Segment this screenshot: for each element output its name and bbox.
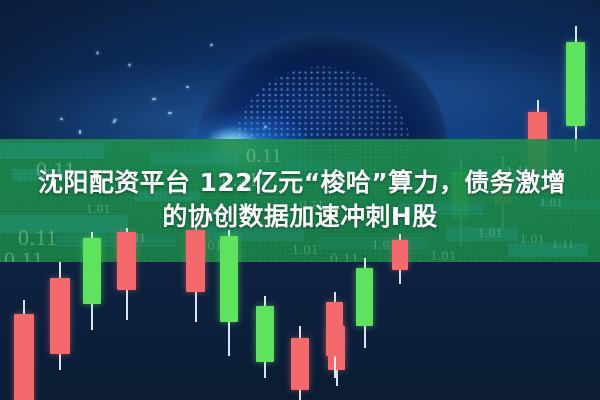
candle-body — [326, 302, 343, 356]
headline-line-2: 的协创数据加速冲刺H股 — [0, 200, 600, 234]
candle-body — [14, 314, 34, 400]
candle-body — [186, 230, 205, 292]
candle-body — [83, 238, 101, 304]
candle-body — [117, 232, 136, 290]
overlay-number: 1.11 — [552, 237, 575, 252]
overlay-number: 1.01 — [430, 249, 457, 262]
headline-line-1: 沈阳配资平台 122亿元“梭哈”算力，债务激增 — [0, 166, 600, 200]
candle-body — [566, 42, 585, 126]
sparkle — [79, 130, 81, 134]
candle-body — [356, 268, 373, 326]
candle-body — [256, 306, 274, 362]
candle-body — [392, 240, 408, 270]
candle-body — [50, 278, 70, 354]
candle-body — [291, 338, 309, 390]
candle-body — [220, 236, 238, 322]
headline: 沈阳配资平台 122亿元“梭哈”算力，债务激增 的协创数据加速冲刺H股 — [0, 166, 600, 234]
banner-image: 0.110.110.211.011.010.111.111.010.110.11… — [0, 0, 600, 400]
